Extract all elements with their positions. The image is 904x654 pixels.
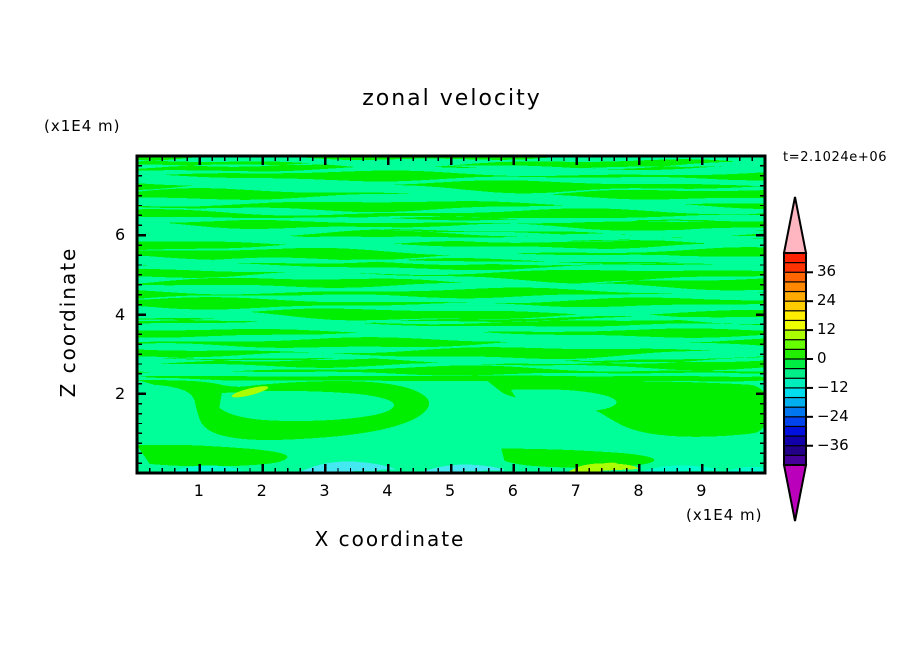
colorbar-band (784, 417, 806, 427)
colorbar (784, 197, 813, 521)
x-tick-label: 8 (633, 481, 643, 500)
colorbar-band (784, 446, 806, 456)
colorbar-over-arrow (784, 197, 806, 253)
x-tick-label: 5 (445, 481, 455, 500)
x-tick-label: 4 (382, 481, 392, 500)
y-tick-label: 6 (115, 225, 125, 244)
figure-canvas: zonal velocity (x1E4 m) t=2.1024e+06 123… (0, 0, 904, 654)
x-axis-title: X coordinate (0, 527, 780, 551)
colorbar-tick-label: 36 (817, 262, 836, 280)
colorbar-band (784, 311, 806, 321)
colorbar-band (784, 320, 806, 330)
colorbar-tick-label: 0 (817, 349, 827, 367)
colorbar-band (784, 282, 806, 292)
x-tick-label: 3 (319, 481, 329, 500)
x-tick-label: 2 (257, 481, 267, 500)
colorbar-band (784, 301, 806, 311)
colorbar-band (784, 272, 806, 282)
colorbar-band (784, 340, 806, 350)
colorbar-band (784, 349, 806, 359)
colorbar-band (784, 330, 806, 340)
contour-plot-area (0, 0, 904, 654)
colorbar-band (784, 407, 806, 417)
x-tick-label: 7 (571, 481, 581, 500)
y-tick-label: 4 (115, 305, 125, 324)
colorbar-band (784, 455, 806, 465)
colorbar-band (784, 388, 806, 398)
y-tick-label: 2 (115, 384, 125, 403)
colorbar-band (784, 292, 806, 302)
colorbar-band (784, 253, 806, 263)
x-tick-label: 9 (696, 481, 706, 500)
colorbar-tick-label: −24 (817, 407, 849, 425)
x-tick-label: 6 (508, 481, 518, 500)
colorbar-tick-label: 12 (817, 320, 836, 338)
colorbar-band (784, 359, 806, 369)
colorbar-band (784, 263, 806, 273)
colorbar-band (784, 378, 806, 388)
colorbar-under-arrow (784, 465, 806, 521)
contour-field (137, 148, 777, 481)
x-axis-unit-label: (x1E4 m) (686, 506, 763, 524)
y-axis-title: Z coordinate (56, 212, 80, 432)
colorbar-band (784, 398, 806, 408)
x-tick-label: 1 (194, 481, 204, 500)
colorbar-band (784, 436, 806, 446)
colorbar-tick-label: −12 (817, 378, 849, 396)
colorbar-band (784, 369, 806, 379)
colorbar-band (784, 426, 806, 436)
colorbar-tick-label: −36 (817, 436, 849, 454)
colorbar-tick-label: 24 (817, 291, 836, 309)
